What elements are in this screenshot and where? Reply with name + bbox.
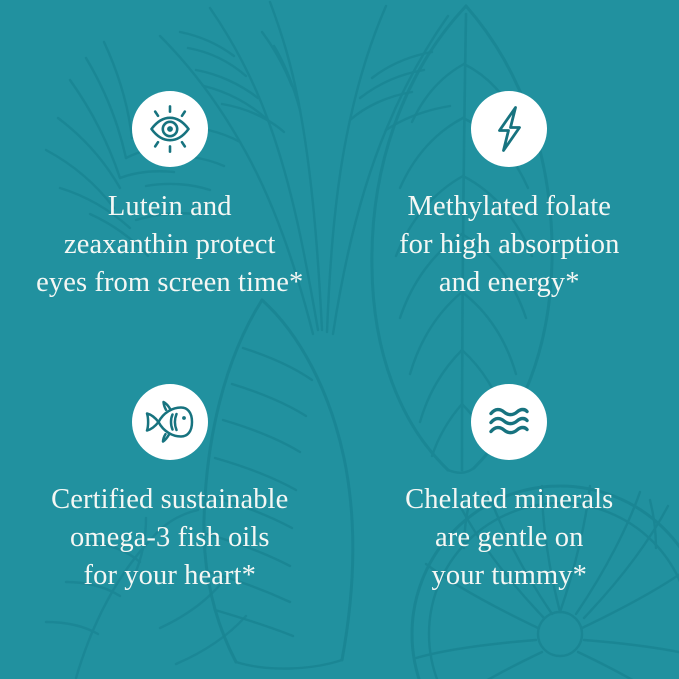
eye-icon [144, 103, 196, 155]
fish-icon-badge [132, 384, 208, 460]
benefit-text-minerals: Chelated minerals are gentle on your tum… [405, 481, 613, 595]
benefit-text-omega3: Certified sustainable omega-3 fish oils … [51, 481, 288, 595]
waves-icon-badge [471, 384, 547, 460]
benefits-grid: Lutein and zeaxanthin protect eyes from … [0, 0, 679, 679]
benefit-item-minerals: Chelated minerals are gentle on your tum… [340, 340, 679, 679]
lightning-bolt-icon-badge [471, 91, 547, 167]
waves-icon [483, 396, 535, 448]
lightning-bolt-icon [483, 103, 535, 155]
benefit-item-eyes: Lutein and zeaxanthin protect eyes from … [0, 0, 340, 340]
benefit-item-omega3: Certified sustainable omega-3 fish oils … [0, 340, 340, 679]
eye-icon-badge [132, 91, 208, 167]
benefit-text-eyes: Lutein and zeaxanthin protect eyes from … [36, 188, 303, 302]
fish-icon [143, 395, 197, 449]
benefit-item-folate: Methylated folate for high absorption an… [340, 0, 679, 340]
benefit-text-folate: Methylated folate for high absorption an… [399, 188, 619, 302]
benefits-panel: Lutein and zeaxanthin protect eyes from … [0, 0, 679, 679]
